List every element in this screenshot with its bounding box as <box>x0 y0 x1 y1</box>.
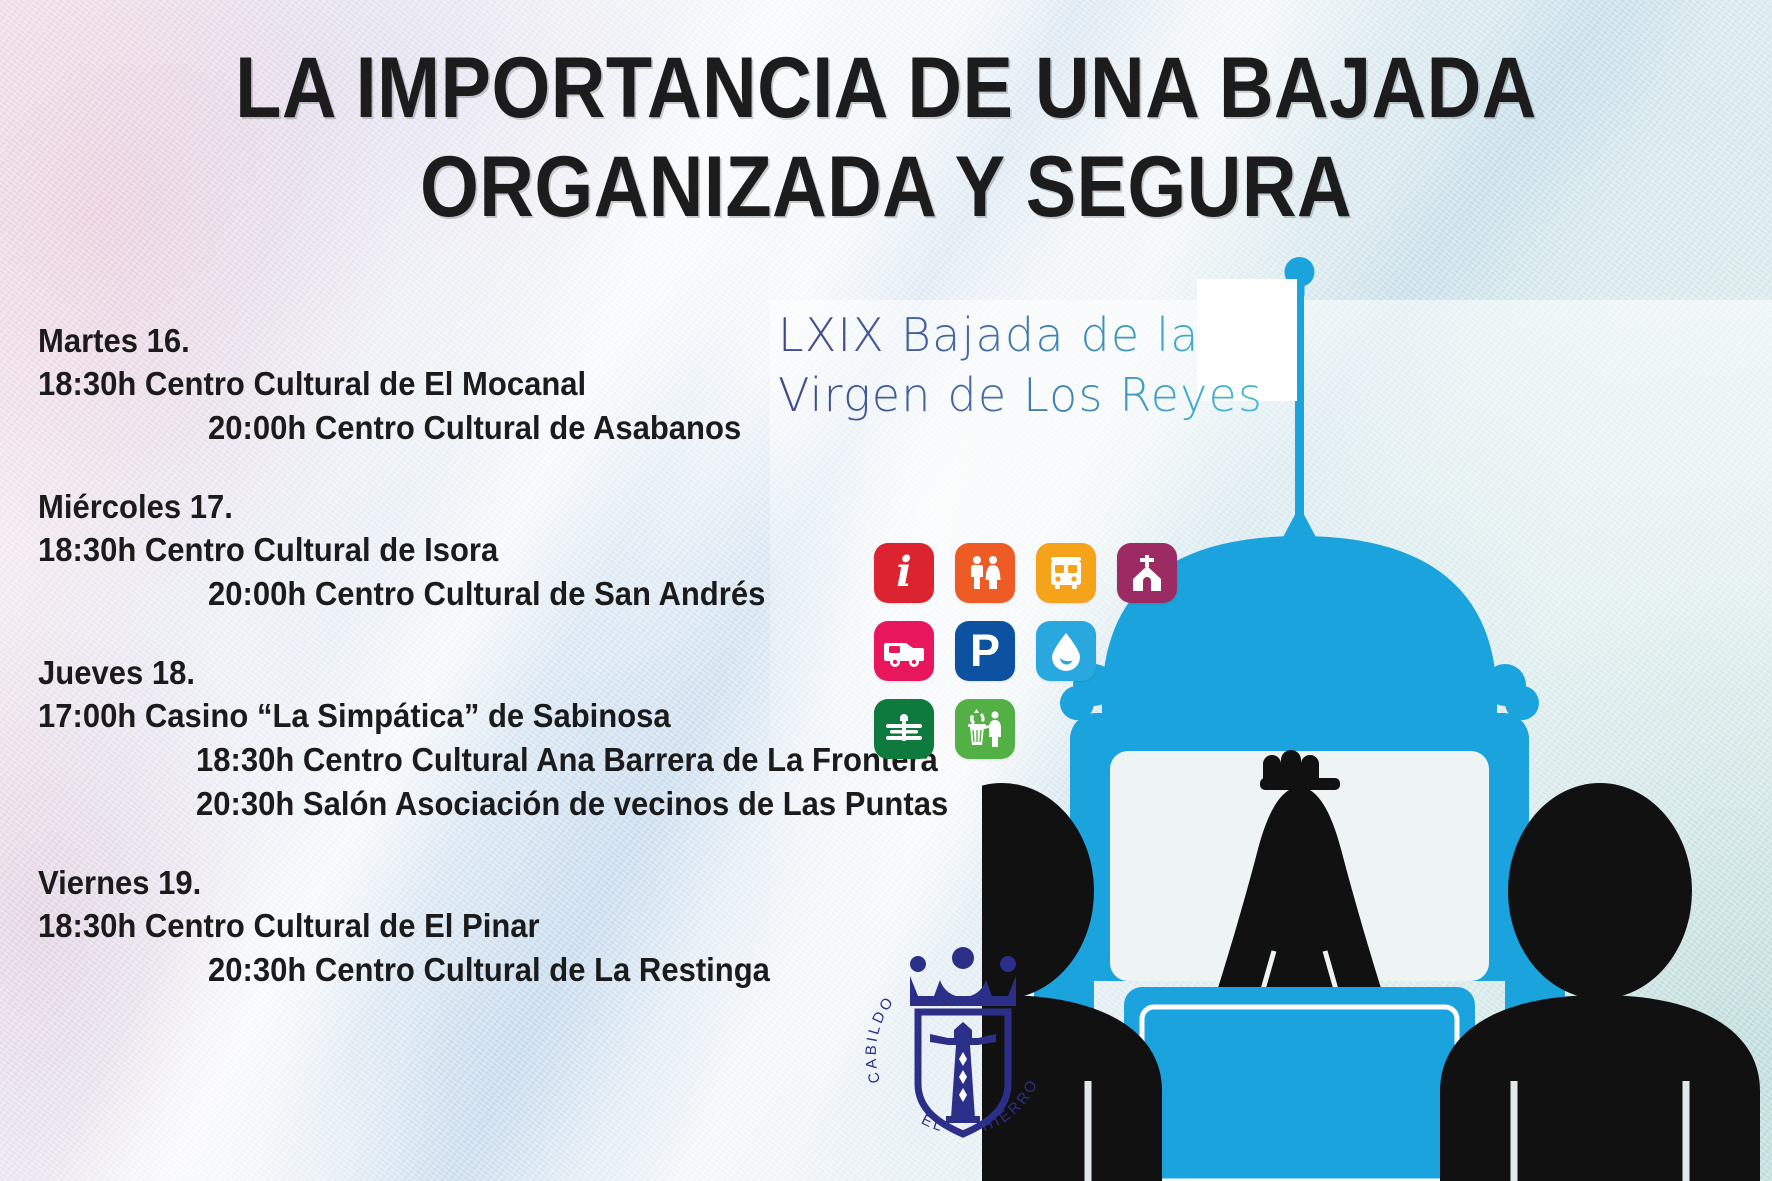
title-line-2: ORGANIZADA Y SEGURA <box>106 143 1665 232</box>
camper-van-icon[interactable] <box>874 621 934 681</box>
information-glyph: i <box>896 552 912 593</box>
schedule-day: Miércoles 17. 18:30h Centro Cultural de … <box>38 486 968 616</box>
service-icon-grid: i <box>874 543 1204 777</box>
session-entry: 20:30h Salón Asociación de vecinos de La… <box>196 782 922 826</box>
day-label: Miércoles 17. <box>38 486 912 528</box>
title-line-1: LA IMPORTANCIA DE UNA BAJADA <box>106 44 1665 133</box>
poster-title: LA IMPORTANCIA DE UNA BAJADA ORGANIZADA … <box>0 44 1772 231</box>
recycling-bin-icon[interactable] <box>955 699 1015 759</box>
schedule-day: Jueves 18. 17:00h Casino “La Simpática” … <box>38 652 968 826</box>
bus-icon[interactable] <box>1036 543 1096 603</box>
session-entry: 18:30h Centro Cultural Ana Barrera de La… <box>196 738 922 782</box>
session-entry: 20:00h Centro Cultural de San Andrés <box>208 572 922 616</box>
day-label: Jueves 18. <box>38 652 912 694</box>
cabildo-text-left: CABILDO <box>863 992 899 1085</box>
session-entry: 17:00h Casino “La Simpática” de Sabinosa <box>38 694 912 738</box>
event-heading-line-2: Virgen de Los Reyes <box>778 366 1263 426</box>
schedule-day: Viernes 19. 18:30h Centro Cultural de El… <box>38 862 968 992</box>
water-drop-icon[interactable] <box>1036 621 1096 681</box>
cabildo-el-hierro-logo: CABILDO EL HIERRO <box>862 938 1072 1163</box>
service-icon-row <box>874 699 1204 759</box>
event-heading: LXIX Bajada de la Virgen de Los Reyes <box>778 306 1263 426</box>
picnic-area-icon[interactable] <box>874 699 934 759</box>
session-entry: 20:30h Centro Cultural de La Restinga <box>208 948 922 992</box>
cabildo-text-bottom: EL <box>919 1111 947 1135</box>
poster: LA IMPORTANCIA DE UNA BAJADA ORGANIZADA … <box>0 0 1772 1181</box>
parking-icon[interactable]: P <box>955 621 1015 681</box>
parking-glyph: P <box>970 628 1000 673</box>
church-icon[interactable] <box>1117 543 1177 603</box>
session-entry: 18:30h Centro Cultural de El Pinar <box>38 904 912 948</box>
service-icon-row: P <box>874 621 1204 681</box>
service-icon-row: i <box>874 543 1204 603</box>
event-heading-line-1: LXIX Bajada de la <box>778 306 1263 366</box>
session-entry: 18:30h Centro Cultural de Isora <box>38 528 912 572</box>
restrooms-icon[interactable] <box>955 543 1015 603</box>
day-label: Viernes 19. <box>38 862 912 904</box>
information-icon[interactable]: i <box>874 543 934 603</box>
